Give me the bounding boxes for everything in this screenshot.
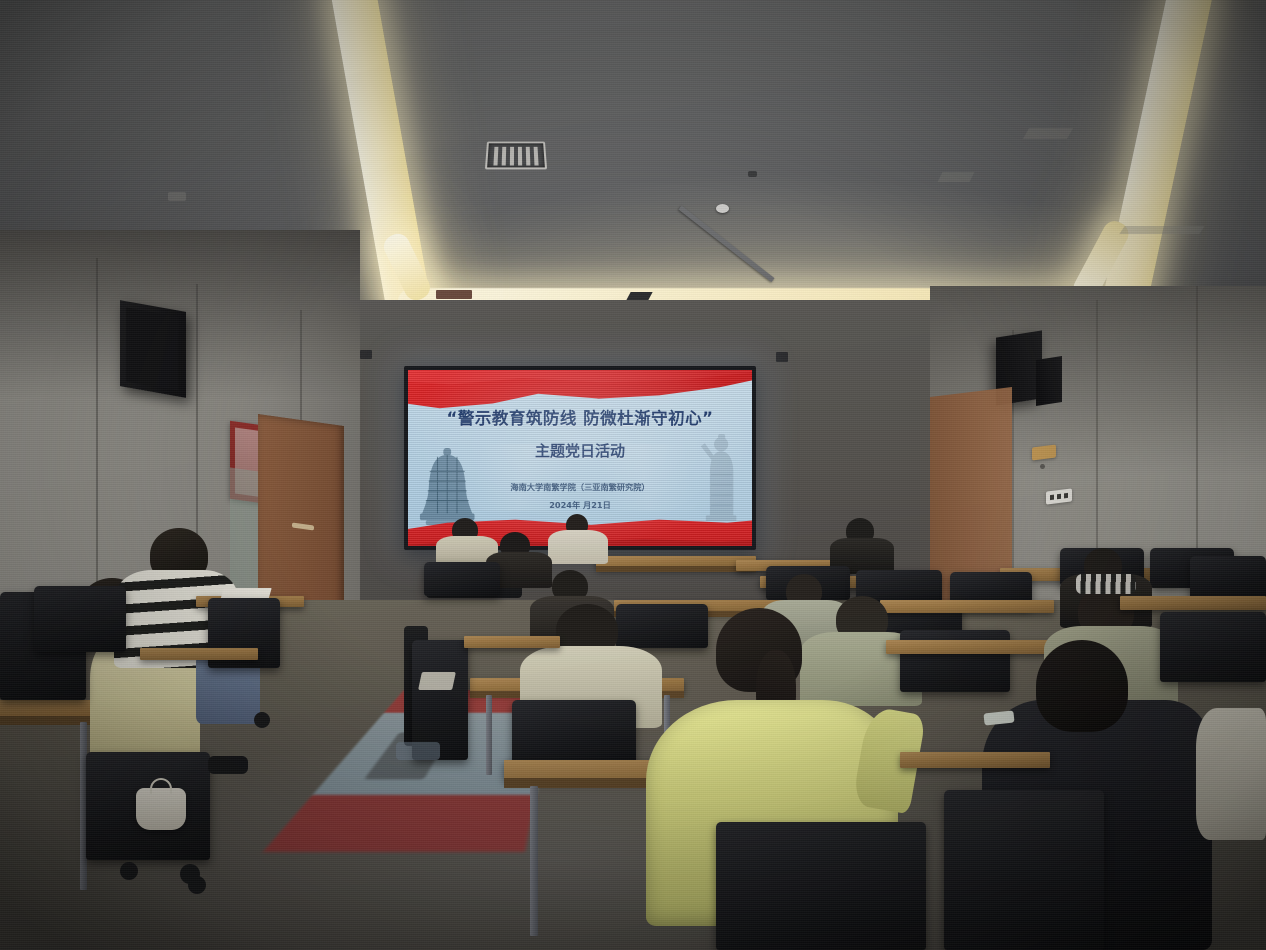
- desk: [464, 636, 560, 648]
- chair-caster: [120, 862, 138, 880]
- slide-date: 2024年 月21日: [408, 499, 752, 511]
- door-left[interactable]: [258, 414, 344, 626]
- slide-text-block: “警示教育筑防线 防微杜渐守初心” 主题党日活动 海南大学南繁学院（三亚南繁研究…: [408, 405, 752, 511]
- chair-caster: [254, 712, 270, 728]
- wall-fixture: [776, 352, 788, 362]
- chair: [944, 790, 1104, 950]
- wall-fixture: [360, 350, 372, 359]
- attendee-striped-shoulder: [1076, 574, 1136, 594]
- chair: [716, 822, 926, 950]
- smoke-detector-icon: [716, 204, 729, 213]
- desk: [1120, 596, 1266, 610]
- subwoofer-icon-right: [1036, 356, 1062, 406]
- slide-title: “警示教育筑防线 防微杜渐守初心”: [408, 405, 752, 429]
- presenter-table-edge: [596, 566, 756, 572]
- chair: [616, 604, 708, 648]
- wall-sign-dot: [1040, 464, 1045, 469]
- chair: [424, 562, 500, 596]
- handbag-icon: [136, 788, 186, 830]
- air-vent-icon: [485, 142, 547, 170]
- ceiling-mark: [938, 172, 975, 182]
- slide-subtitle: 主题党日活动: [408, 440, 752, 461]
- ceiling-mark: [1119, 226, 1204, 234]
- shoe: [208, 756, 248, 774]
- desk: [140, 648, 258, 660]
- ceiling-mark: [168, 192, 186, 201]
- sprinkler-head-icon: [748, 171, 757, 177]
- chair: [1160, 612, 1266, 682]
- desk: [900, 752, 1050, 768]
- desk-leg: [530, 786, 538, 936]
- attendee-head: [1036, 640, 1128, 732]
- ceiling-plate-left: [436, 290, 472, 299]
- paper-document: [418, 672, 456, 690]
- slide-organization: 海南大学南繁学院（三亚南繁研究院）: [408, 481, 752, 493]
- attendee-torso: [1196, 708, 1266, 840]
- desk-leg: [486, 695, 492, 775]
- ceiling-mark: [1023, 128, 1073, 139]
- meeting-room-photo: “警示教育筑防线 防微杜渐守初心” 主题党日活动 海南大学南繁学院（三亚南繁研究…: [0, 0, 1266, 950]
- chair-caster: [180, 864, 200, 884]
- water-bottle: [396, 742, 440, 760]
- speaker-grille-left: [126, 307, 178, 390]
- desk: [880, 600, 1054, 613]
- chair: [34, 586, 126, 652]
- chair: [512, 700, 636, 766]
- handbag-strap: [150, 778, 172, 794]
- presenter-torso: [548, 530, 608, 564]
